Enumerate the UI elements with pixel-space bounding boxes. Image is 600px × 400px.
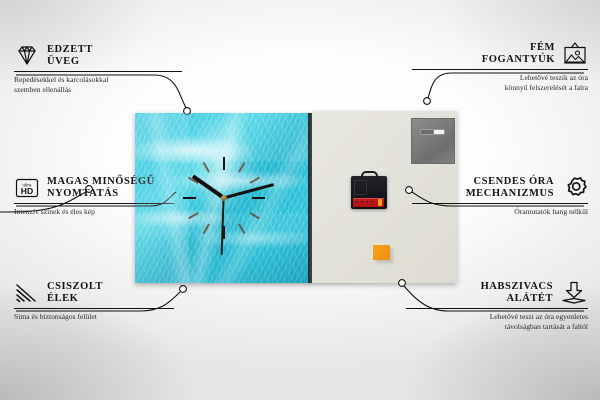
feature-header: EDZETT ÜVEG xyxy=(14,44,182,69)
battery-label xyxy=(356,201,374,203)
feature-header: HABSZIVACS ALÁTÉT xyxy=(406,281,588,306)
product-image xyxy=(135,113,457,283)
ultra-hd-icon: ultra HD xyxy=(14,177,40,199)
metal-hanger-plate xyxy=(411,118,455,164)
feature-title: EDZETT ÜVEG xyxy=(47,44,93,69)
hour-hand xyxy=(191,175,224,200)
feature-subtitle: Lehetővé teszi az óra egyenletes távolsá… xyxy=(406,312,588,331)
picture-hanger-icon xyxy=(562,42,588,66)
feature-title: CSISZOLT ÉLEK xyxy=(47,281,103,306)
gear-icon xyxy=(561,176,588,200)
feature-polished-edges: CSISZOLT ÉLEK Sima és biztonságos felüle… xyxy=(14,281,174,322)
foam-pad-spacer xyxy=(373,245,390,260)
feature-divider xyxy=(406,308,588,309)
feature-header: CSISZOLT ÉLEK xyxy=(14,281,174,306)
feature-title: FÉM FOGANTYÚK xyxy=(482,42,555,67)
feature-subtitle: Sima és biztonságos felület xyxy=(14,312,174,322)
feature-foam-pad: HABSZIVACS ALÁTÉT Lehetővé teszi az óra … xyxy=(406,281,588,332)
feature-divider xyxy=(14,308,174,309)
diamond-icon xyxy=(14,45,40,67)
foam-pad-icon xyxy=(560,281,588,305)
feature-header: FÉM FOGANTYÚK xyxy=(412,42,588,67)
mechanism-handle xyxy=(361,171,378,179)
feature-title: HABSZIVACS ALÁTÉT xyxy=(481,281,553,306)
battery-positive-tip xyxy=(378,199,382,206)
feature-tempered-glass: EDZETT ÜVEG Repedésekkel és karcolásokka… xyxy=(14,44,182,95)
battery xyxy=(353,198,383,207)
polished-edge-icon xyxy=(14,282,40,304)
hanger-keyhole-slot xyxy=(420,129,445,135)
feature-header: CSENDES ÓRA MECHANIZMUS xyxy=(412,176,588,201)
feature-subtitle: Óramutatók hang nélkül xyxy=(412,207,588,217)
feature-subtitle: Lehetővé teszik az óra könnyű felszerelé… xyxy=(412,73,588,92)
feature-metal-handles: FÉM FOGANTYÚK Lehetővé teszik az óra kön… xyxy=(412,42,588,93)
feature-divider xyxy=(14,71,182,72)
feature-subtitle: Repedésekkel és karcolásokkal szemben el… xyxy=(14,75,182,94)
clock-front-panel xyxy=(135,113,312,283)
feature-silent-mechanism: CSENDES ÓRA MECHANIZMUS Óramutatók hang … xyxy=(412,176,588,217)
clock-center-cap xyxy=(221,195,227,201)
feature-divider xyxy=(412,203,588,204)
svg-text:HD: HD xyxy=(21,186,33,196)
clock-dial xyxy=(135,113,312,283)
glass-polished-edge xyxy=(308,113,312,283)
feature-title: CSENDES ÓRA MECHANIZMUS xyxy=(466,176,554,201)
mechanism-seam xyxy=(354,180,367,195)
feature-divider xyxy=(412,69,588,70)
clock-mechanism-box xyxy=(351,176,387,209)
